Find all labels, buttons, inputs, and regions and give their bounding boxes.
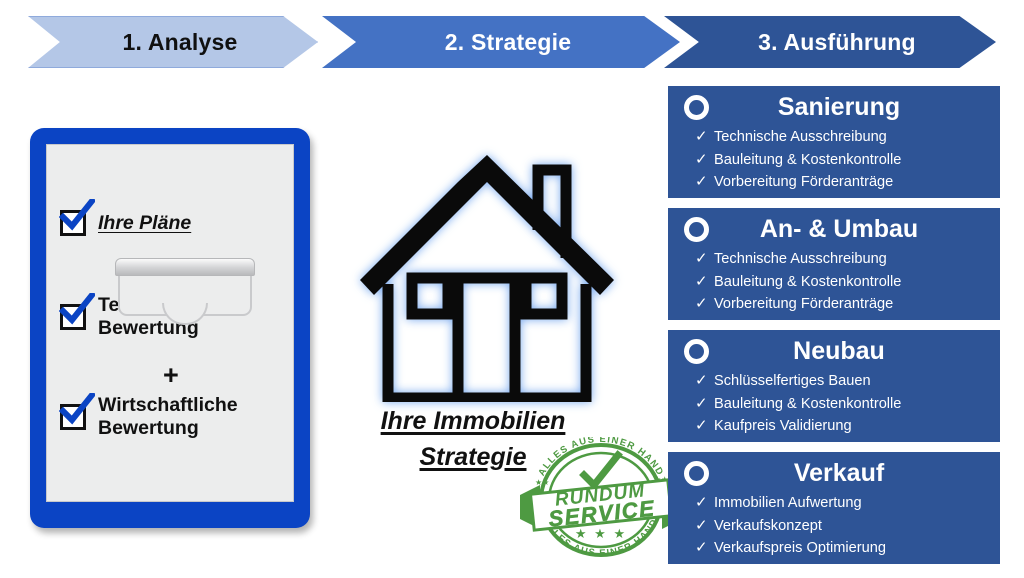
list-item-label: Verkaufskonzept (714, 518, 822, 534)
list-item: ✓Verkaufskonzept (714, 515, 990, 538)
check-mark-icon (59, 393, 95, 427)
infographic-canvas: 1. Analyse 2. Strategie 3. Ausführung Ih… (0, 0, 1024, 578)
service-card-bullets: ✓Technische Ausschreibung ✓Bauleitung & … (678, 248, 990, 316)
list-item-label: Technische Ausschreibung (714, 251, 887, 267)
list-item-label: Vorbereitung Förderanträge (714, 296, 893, 312)
clipboard-graphic: Ihre Pläne + Technische Bewertung + Wirt… (30, 128, 310, 528)
check-icon: ✓ (695, 415, 708, 438)
check-icon: ✓ (695, 393, 708, 416)
service-card-bullets: ✓Schlüsselfertiges Bauen ✓Bauleitung & K… (678, 370, 990, 438)
check-icon: ✓ (695, 248, 708, 271)
checkbox-icon[interactable] (60, 404, 86, 430)
check-icon: ✓ (695, 171, 708, 194)
list-item: ✓Schlüsselfertiges Bauen (714, 370, 990, 393)
check-icon: ✓ (695, 515, 708, 538)
plus-connector: + (163, 360, 179, 391)
service-card-header: An- & Umbau (678, 214, 990, 248)
process-step-label: 2. Strategie (322, 29, 680, 56)
list-item: ✓Technische Ausschreibung (714, 248, 990, 271)
list-item-label: Verkaufspreis Optimierung (714, 540, 886, 556)
check-icon: ✓ (695, 537, 708, 560)
list-item-label: Vorbereitung Förderanträge (714, 174, 893, 190)
list-item: ✓Vorbereitung Förderanträge (714, 171, 990, 194)
checklist-item-label: Wirtschaftliche Bewertung (98, 394, 238, 440)
process-step-ausfuehrung[interactable]: 3. Ausführung (664, 16, 996, 68)
check-icon: ✓ (695, 370, 708, 393)
service-card-title: An- & Umbau (678, 214, 990, 244)
list-item-label: Kaufpreis Validierung (714, 418, 852, 434)
service-card-verkauf[interactable]: Verkauf ✓Immobilien Aufwertung ✓Verkaufs… (668, 452, 1000, 564)
list-item-label: Bauleitung & Kostenkontrolle (714, 152, 901, 168)
checkbox-icon[interactable] (60, 210, 86, 236)
service-card-header: Sanierung (678, 92, 990, 126)
clipboard-clip-body (118, 274, 252, 316)
service-card-sanierung[interactable]: Sanierung ✓Technische Ausschreibung ✓Bau… (668, 86, 1000, 198)
ring-icon (684, 339, 709, 364)
checkbox-icon[interactable] (60, 304, 86, 330)
list-item: ✓Immobilien Aufwertung (714, 492, 990, 515)
ring-icon (684, 95, 709, 120)
service-card-title: Neubau (678, 336, 990, 366)
check-icon: ✓ (695, 271, 708, 294)
service-card-an-umbau[interactable]: An- & Umbau ✓Technische Ausschreibung ✓B… (668, 208, 1000, 320)
house-caption-line1: Ihre Immobilien (381, 407, 566, 435)
ring-icon (684, 461, 709, 486)
process-step-analyse[interactable]: 1. Analyse (28, 16, 318, 68)
service-card-bullets: ✓Technische Ausschreibung ✓Bauleitung & … (678, 126, 990, 194)
list-item-label: Bauleitung & Kostenkontrolle (714, 396, 901, 412)
check-mark-icon (59, 199, 95, 233)
list-item: ✓Technische Ausschreibung (714, 126, 990, 149)
service-card-title: Verkauf (678, 458, 990, 488)
house-icon (352, 152, 622, 402)
process-step-label: 1. Analyse (29, 29, 317, 56)
service-card-title: Sanierung (678, 92, 990, 122)
list-item: ✓Bauleitung & Kostenkontrolle (714, 271, 990, 294)
list-item: ✓Verkaufspreis Optimierung (714, 537, 990, 560)
check-icon: ✓ (695, 149, 708, 172)
check-icon: ✓ (695, 293, 708, 316)
list-item: ✓Bauleitung & Kostenkontrolle (714, 393, 990, 416)
check-icon: ✓ (695, 126, 708, 149)
list-item: ✓Bauleitung & Kostenkontrolle (714, 149, 990, 172)
list-item: ✓Kaufpreis Validierung (714, 415, 990, 438)
list-item-label: Schlüsselfertiges Bauen (714, 373, 871, 389)
list-item: ✓Vorbereitung Förderanträge (714, 293, 990, 316)
list-item-label: Bauleitung & Kostenkontrolle (714, 274, 901, 290)
process-step-label: 3. Ausführung (664, 29, 996, 56)
service-card-neubau[interactable]: Neubau ✓Schlüsselfertiges Bauen ✓Bauleit… (668, 330, 1000, 442)
stamp-stars: ★ ★ ★ (575, 526, 627, 541)
rundum-service-stamp: ALLES AUS EINER HAND ALLES AUS EINER HAN… (518, 437, 684, 559)
check-mark-icon (59, 293, 95, 327)
service-card-header: Verkauf (678, 458, 990, 492)
list-item-label: Technische Ausschreibung (714, 129, 887, 145)
checklist-item[interactable]: Ihre Pläne (60, 210, 191, 236)
list-item-label: Immobilien Aufwertung (714, 495, 862, 511)
ring-icon (684, 217, 709, 242)
stamp-side-stars-left: ★★ (535, 478, 549, 487)
service-card-header: Neubau (678, 336, 990, 370)
checklist-item-label: Ihre Pläne (98, 212, 191, 235)
checklist-item[interactable]: Wirtschaftliche Bewertung (60, 394, 238, 440)
service-card-bullets: ✓Immobilien Aufwertung ✓Verkaufskonzept … (678, 492, 990, 560)
clipboard-clip-head (115, 258, 255, 276)
process-step-strategie[interactable]: 2. Strategie (322, 16, 680, 68)
house-caption-line2: Strategie (420, 443, 527, 471)
check-icon: ✓ (695, 492, 708, 515)
